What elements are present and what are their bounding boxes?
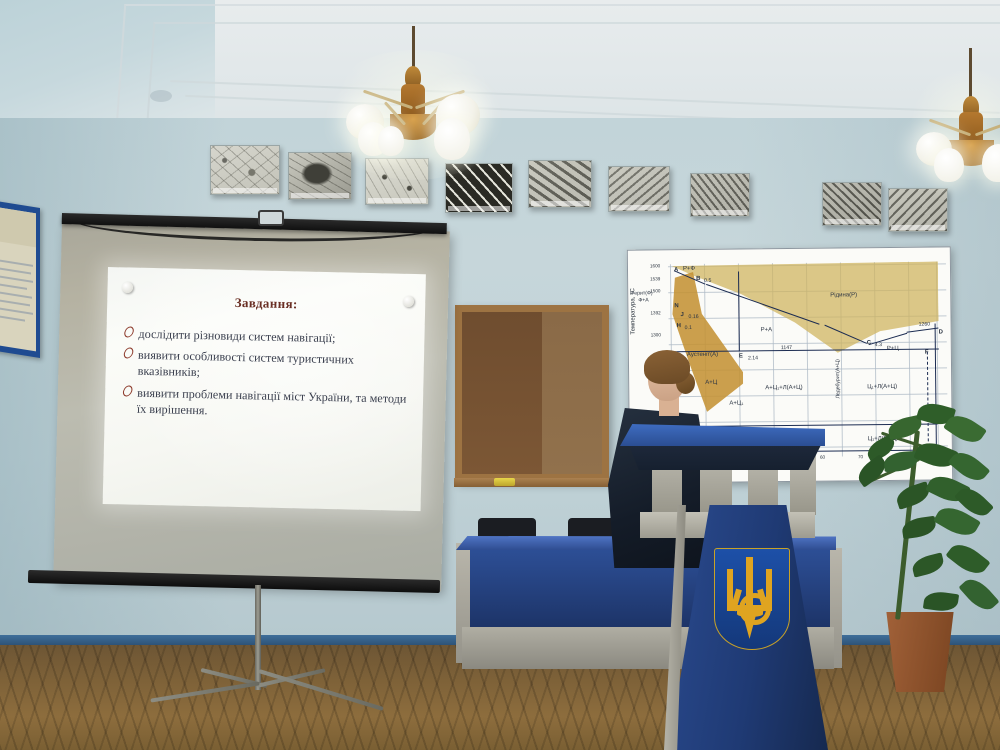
micrograph-panel — [445, 163, 513, 213]
chalk-sponge[interactable] — [494, 478, 515, 486]
tripod-pole — [255, 585, 261, 690]
tryzub-center-ring — [739, 593, 771, 625]
region-ferrite: Ферит(Ф) — [630, 290, 652, 296]
list-item-text: дослідити різновиди систем навігації; — [138, 327, 335, 345]
chandelier-shade — [434, 118, 470, 160]
notice-board[interactable] — [0, 200, 40, 358]
chalkboard-panels — [462, 312, 602, 474]
y-tick: 1392 — [650, 310, 660, 315]
list-item-text: виявити проблеми навігації міст України,… — [137, 385, 407, 417]
point-D-value: 1260 — [919, 322, 931, 328]
point-C-value: 4.3 — [875, 342, 882, 348]
micrograph-panel — [365, 158, 429, 205]
x-tick: 70 — [858, 454, 863, 459]
region-P-A: Р+А — [761, 327, 773, 333]
point-A: A — [674, 267, 678, 273]
slide-bullet-list: дослідити різновиди систем навігації; ви… — [122, 325, 414, 428]
lecture-hall-photo: Температура, °C 1600 1539 1500 1392 1300… — [0, 0, 1000, 750]
micrograph-caption — [291, 193, 349, 198]
micrograph-texture — [446, 164, 512, 212]
point-J: J — [680, 312, 683, 318]
point-H-value: 0.1 — [685, 325, 692, 331]
region-P-F: Р+Ф — [683, 266, 695, 272]
list-item: виявити особливості систем туристичних в… — [123, 347, 414, 386]
region-P-C: Р+Ц — [887, 346, 899, 352]
screen-hook[interactable] — [258, 210, 284, 226]
ceiling-cornice-inner — [147, 22, 1000, 120]
point-B: B — [696, 276, 700, 282]
slide-pin-right — [403, 296, 414, 307]
point-F: F — [925, 350, 929, 356]
list-item-text: виявити особливості систем туристичних в… — [137, 348, 354, 380]
projected-slide: Завдання: дослідити різновиди систем нав… — [103, 267, 426, 511]
micrograph-panel — [608, 166, 670, 212]
micrograph-caption — [448, 206, 510, 211]
micrograph-caption — [693, 210, 747, 215]
micrograph-caption — [611, 205, 667, 210]
region-ledeburite: Ледебурит(А+Ц) — [835, 359, 841, 398]
point-B-value: 0.5 — [704, 278, 711, 284]
region-F-A: Ф+А — [638, 297, 648, 303]
bullet-icon — [123, 348, 135, 359]
slide-pin-left — [122, 282, 133, 293]
chandelier-rod — [969, 48, 972, 100]
x-tick: 60 — [820, 455, 825, 460]
isotherm-label: 1147 — [781, 345, 792, 351]
region-austenite: Аустеніт(А) — [687, 352, 718, 358]
y-tick: 1600 — [650, 263, 660, 268]
tryzub-emblem-shield — [714, 548, 790, 650]
micrograph-panel — [210, 145, 280, 195]
micrograph-caption — [825, 219, 879, 224]
point-H: H — [677, 323, 681, 329]
chalk-ledge — [454, 478, 610, 487]
list-item: виявити проблеми навігації міст України,… — [123, 384, 414, 423]
y-tick: 1300 — [651, 332, 661, 337]
list-item: дослідити різновиди систем навігації; — [124, 325, 414, 348]
region-C1-L: Ц₁+Л(А+Ц) — [867, 384, 897, 390]
bullet-icon — [123, 326, 135, 337]
region-A-C: А+Ц — [705, 380, 717, 386]
micrograph-panel — [822, 182, 882, 226]
micrograph-texture — [211, 146, 279, 194]
region-A-C1-L: А+Ц₁+Л(А+Ц) — [765, 385, 802, 391]
region-A-C1: А+Ц₁ — [729, 400, 743, 406]
bullet-icon — [122, 385, 134, 396]
micrograph-panel — [528, 160, 592, 208]
point-E: E — [739, 353, 743, 359]
micrograph-panel — [288, 152, 352, 200]
chalkboard-panel-left[interactable] — [462, 312, 542, 474]
point-N: N — [674, 303, 678, 309]
micrograph-panel — [690, 173, 750, 217]
wall-mark — [150, 90, 172, 102]
micrograph-caption — [531, 201, 589, 206]
point-D: D — [939, 329, 943, 335]
chandelier-shade — [378, 126, 404, 156]
presenter-hair — [644, 350, 690, 384]
micrograph-caption — [368, 198, 426, 203]
micrograph-panel — [888, 188, 948, 232]
chandelier-body — [401, 84, 425, 118]
micrograph-caption — [213, 188, 277, 193]
point-J-value: 0.16 — [688, 314, 698, 320]
point-C: C — [867, 340, 871, 346]
y-tick: 1539 — [650, 276, 660, 281]
chandelier-right — [920, 48, 1000, 168]
chandelier-center — [338, 26, 488, 156]
chalkboard[interactable] — [455, 305, 609, 481]
region-liquid: Рідина(Р) — [830, 292, 857, 298]
point-E-value: 2.14 — [748, 355, 758, 361]
micrograph-caption — [891, 225, 945, 230]
chandelier-shade — [934, 148, 964, 182]
chalkboard-panel-right[interactable] — [542, 312, 602, 474]
notice-header — [0, 207, 36, 248]
slide-title: Завдання: — [107, 292, 425, 315]
